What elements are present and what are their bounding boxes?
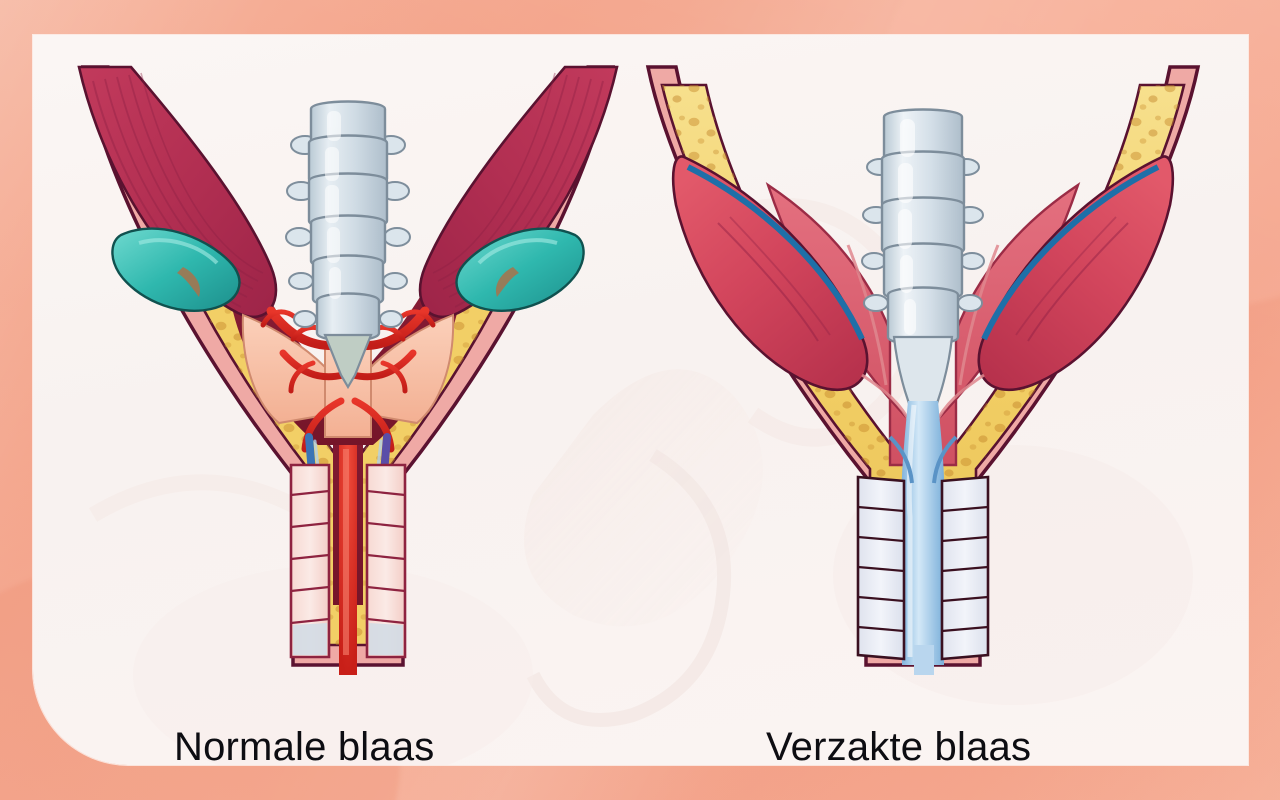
- artery-highlight: [343, 449, 349, 655]
- caption-normal-bladder: Normale blaas: [174, 725, 435, 765]
- caption-prolapsed-bladder: Verzakte blaas: [766, 725, 1031, 765]
- diagram-normal-bladder: [43, 45, 653, 675]
- diagram-prolapsed-bladder: [618, 45, 1228, 675]
- content-card: Normale blaas Verzakte blaas: [33, 35, 1248, 765]
- illustration-root: Normale blaas Verzakte blaas: [0, 0, 1280, 800]
- panel-normal-bladder: [43, 45, 653, 675]
- panel-prolapsed-bladder: [618, 45, 1228, 675]
- urethra-outflow: [914, 645, 934, 675]
